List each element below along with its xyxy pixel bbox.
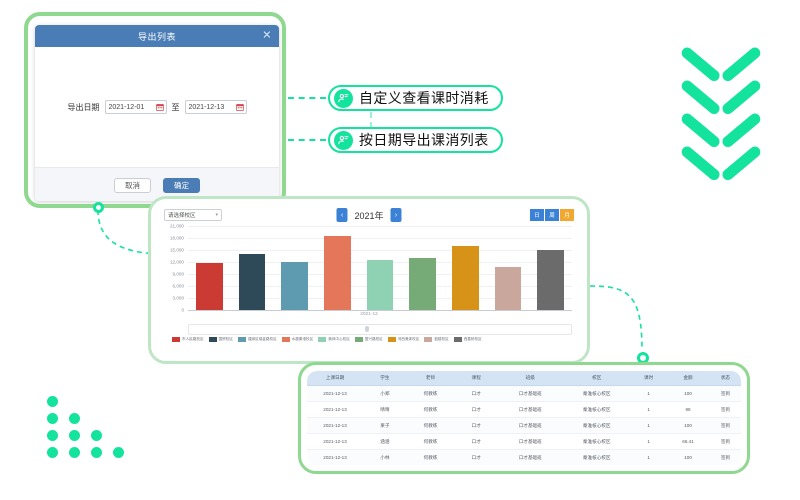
table-row[interactable]: 2021-12-13涵涵何教练口才口才基础班秦淮核心校区166.41签到 <box>307 434 741 450</box>
y-axis-tick: 12,000 <box>170 260 184 265</box>
table-cell: 小林 <box>363 450 407 466</box>
table-cell: 2021-12-13 <box>307 386 363 402</box>
legend-label: 国贸校区 <box>219 337 233 342</box>
chart-legend: 市人民路校区国贸校区建邺区瑞金路校区水墨秦淮校区奥体中心校区复兴路校区河西奥体校… <box>172 337 572 342</box>
legend-swatch <box>209 337 217 342</box>
grid-line <box>188 310 572 311</box>
table-cell: 秦淮核心校区 <box>562 450 631 466</box>
y-axis-tick: 15,000 <box>170 248 184 253</box>
bar-cell <box>188 226 231 310</box>
legend-label: 鼓楼校区 <box>434 337 448 342</box>
legend-swatch <box>172 337 180 342</box>
bar-cell <box>231 226 274 310</box>
bar-series <box>188 226 572 310</box>
bar[interactable] <box>196 263 222 310</box>
bar[interactable] <box>495 267 521 310</box>
legend-item[interactable]: 建邺区瑞金路校区 <box>238 337 277 342</box>
table-cell: 2021-12-13 <box>307 450 363 466</box>
legend-label: 复兴路校区 <box>365 337 383 342</box>
date-range-separator: 至 <box>172 102 180 113</box>
legend-item[interactable]: 西善桥校区 <box>454 337 482 342</box>
legend-item[interactable]: 国贸校区 <box>209 337 233 342</box>
legend-label: 水墨秦淮校区 <box>292 337 314 342</box>
legend-item[interactable]: 复兴路校区 <box>355 337 383 342</box>
calendar-icon[interactable] <box>156 103 164 111</box>
callout-label: 自定义查看课时消耗 <box>359 88 489 108</box>
year-navigator: ‹ 2021年 › <box>336 208 401 222</box>
y-axis-tick: 9,000 <box>173 272 185 277</box>
callout-label: 按日期导出课消列表 <box>359 130 489 150</box>
legend-item[interactable]: 奥体中心校区 <box>318 337 350 342</box>
chart-panel: 请选择校区 ▾ ‹ 2021年 › 日 周 月 03,0006,0009,000… <box>158 206 580 354</box>
table-column-header: 课时 <box>631 371 666 386</box>
table-cell: 小郑 <box>363 386 407 402</box>
table-cell: 签到 <box>710 402 741 418</box>
connector-line-chart-table <box>588 284 654 356</box>
bar-cell <box>401 226 444 310</box>
table-cell: 签到 <box>710 434 741 450</box>
y-axis: 03,0006,0009,00012,00015,00018,00021,000 <box>162 226 186 310</box>
legend-item[interactable]: 市人民路校区 <box>172 337 204 342</box>
legend-swatch <box>454 337 462 342</box>
table-cell: 2021-12-13 <box>307 434 363 450</box>
dot-matrix-decoration <box>47 396 133 458</box>
calendar-icon[interactable] <box>236 103 244 111</box>
y-axis-tick: 18,000 <box>170 236 184 241</box>
bar-chart-plot: 03,0006,0009,00012,00015,00018,00021,000… <box>158 226 580 320</box>
callout-dash-top <box>288 97 326 99</box>
legend-swatch <box>282 337 290 342</box>
table-cell: 秦淮核心校区 <box>562 386 631 402</box>
bar[interactable] <box>409 258 435 310</box>
chevron-down-icon: ▾ <box>215 212 218 218</box>
bar-cell <box>444 226 487 310</box>
campus-select-value: 请选择校区 <box>168 211 196 219</box>
y-axis-tick: 21,000 <box>170 224 184 229</box>
table-row[interactable]: 2021-12-13小郑何教练口才口才基础班秦淮核心校区1100签到 <box>307 386 741 402</box>
campus-select[interactable]: 请选择校区 ▾ <box>164 209 222 221</box>
table-row[interactable]: 2021-12-13小林何教练口才口才基础班秦淮核心校区1100签到 <box>307 450 741 466</box>
table-cell: 签到 <box>710 450 741 466</box>
prev-year-button[interactable]: ‹ <box>336 208 347 222</box>
legend-item[interactable]: 河西奥体校区 <box>388 337 420 342</box>
legend-swatch <box>355 337 363 342</box>
bar[interactable] <box>367 260 393 310</box>
table-cell: 签到 <box>710 386 741 402</box>
poster-canvas: 导出列表 ✕ 导出日期 2021-12-01 至 2021-12-13 <box>0 0 800 500</box>
bar-cell <box>487 226 530 310</box>
person-settings-icon <box>334 89 353 108</box>
table-cell: 66.41 <box>666 434 710 450</box>
granularity-day-button[interactable]: 日 <box>530 209 545 221</box>
y-axis-tick: 6,000 <box>173 284 185 289</box>
bar-cell <box>529 226 572 310</box>
table-cell: 98 <box>666 402 710 418</box>
legend-item[interactable]: 鼓楼校区 <box>424 337 448 342</box>
table-cell: 口才 <box>454 386 498 402</box>
table-cell: 口才基础班 <box>498 402 562 418</box>
table-cell: 签到 <box>710 418 741 434</box>
confirm-button[interactable]: 确定 <box>163 178 200 193</box>
table-column-header: 状态 <box>710 371 741 386</box>
bar-cell <box>273 226 316 310</box>
table-cell: 口才 <box>454 402 498 418</box>
table-column-header: 上课日期 <box>307 371 363 386</box>
legend-swatch <box>238 337 246 342</box>
table-cell: 口才基础班 <box>498 450 562 466</box>
table-cell: 2021-12-13 <box>307 418 363 434</box>
table-cell: 口才基础班 <box>498 418 562 434</box>
table-body: 2021-12-13小郑何教练口才口才基础班秦淮核心校区1100签到2021-1… <box>307 386 741 466</box>
callout-dash-connector <box>370 112 372 128</box>
table-cell: 1 <box>631 450 666 466</box>
table-cell: 2021-12-13 <box>307 402 363 418</box>
table-cell: 何教练 <box>407 434 455 450</box>
legend-label: 西善桥校区 <box>464 337 482 342</box>
table-column-header: 金额 <box>666 371 710 386</box>
cancel-button[interactable]: 取消 <box>114 178 151 193</box>
table-cell: 何教练 <box>407 402 455 418</box>
bar[interactable] <box>537 250 563 310</box>
dialog-body: 导出日期 2021-12-01 至 2021-12-13 <box>35 47 279 167</box>
chart-horizontal-scrollbar[interactable] <box>188 324 572 335</box>
granularity-month-button[interactable]: 月 <box>560 209 574 221</box>
end-date-value: 2021-12-13 <box>189 104 234 111</box>
table-cell: 秦淮核心校区 <box>562 418 631 434</box>
class-consumption-table: 上课日期学生老师课程班级校区课时金额状态 2021-12-13小郑何教练口才口才… <box>307 371 741 465</box>
class-consumption-table-wrapper: 上课日期学生老师课程班级校区课时金额状态 2021-12-13小郑何教练口才口才… <box>307 371 741 465</box>
next-year-button[interactable]: › <box>391 208 402 222</box>
bar[interactable] <box>281 262 307 310</box>
dialog-titlebar: 导出列表 ✕ <box>35 25 279 47</box>
table-cell: 何教练 <box>407 418 455 434</box>
bar[interactable] <box>239 254 265 310</box>
table-cell: 涵涵 <box>363 434 407 450</box>
export-dialog-card: 导出列表 ✕ 导出日期 2021-12-01 至 2021-12-13 <box>24 12 286 208</box>
table-cell: 1 <box>631 434 666 450</box>
legend-swatch <box>424 337 432 342</box>
legend-label: 奥体中心校区 <box>328 337 350 342</box>
start-date-value: 2021-12-01 <box>109 104 154 111</box>
table-cell: 口才 <box>454 418 498 434</box>
table-column-header: 课程 <box>454 371 498 386</box>
table-cell: 100 <box>666 450 710 466</box>
legend-label: 建邺区瑞金路校区 <box>248 337 277 342</box>
table-cell: 口才基础班 <box>498 434 562 450</box>
x-axis-label: 2021-12 <box>158 312 580 317</box>
table-column-header: 校区 <box>562 371 631 386</box>
table-row[interactable]: 2021-12-13晴晴何教练口才口才基础班秦淮核心校区198签到 <box>307 402 741 418</box>
table-cell: 何教练 <box>407 450 455 466</box>
legend-swatch <box>388 337 396 342</box>
legend-item[interactable]: 水墨秦淮校区 <box>282 337 314 342</box>
scrollbar-thumb[interactable] <box>365 326 369 332</box>
chevron-down-icon <box>683 139 759 183</box>
bar[interactable] <box>324 236 350 310</box>
table-cell: 何教练 <box>407 386 455 402</box>
table-cell: 果子 <box>363 418 407 434</box>
table-cell: 1 <box>631 402 666 418</box>
export-dialog: 导出列表 ✕ 导出日期 2021-12-01 至 2021-12-13 <box>35 25 279 201</box>
table-column-header: 学生 <box>363 371 407 386</box>
person-settings-icon <box>334 131 353 150</box>
table-cell: 口才 <box>454 434 498 450</box>
table-head: 上课日期学生老师课程班级校区课时金额状态 <box>307 371 741 386</box>
table-cell: 秦淮核心校区 <box>562 434 631 450</box>
callout-dash-bottom <box>288 139 326 141</box>
class-consumption-table-card: 上课日期学生老师课程班级校区课时金额状态 2021-12-13小郑何教练口才口才… <box>298 362 750 474</box>
table-cell: 1 <box>631 386 666 402</box>
callout-export-by-date[interactable]: 按日期导出课消列表 <box>328 127 503 153</box>
table-cell: 秦淮核心校区 <box>562 402 631 418</box>
table-cell: 口才基础班 <box>498 386 562 402</box>
chevron-decoration-group <box>683 40 773 190</box>
table-column-header: 老师 <box>407 371 455 386</box>
start-date-input[interactable]: 2021-12-01 <box>105 100 167 114</box>
export-date-label: 导出日期 <box>68 102 100 113</box>
end-date-input[interactable]: 2021-12-13 <box>185 100 247 114</box>
chart-toolbar: 请选择校区 ▾ ‹ 2021年 › 日 周 月 <box>158 206 580 226</box>
granularity-toggle-group: 日 周 月 <box>530 209 574 221</box>
legend-swatch <box>318 337 326 342</box>
table-cell: 晴晴 <box>363 402 407 418</box>
granularity-week-button[interactable]: 周 <box>545 209 560 221</box>
bar-cell <box>359 226 402 310</box>
bar[interactable] <box>452 246 478 310</box>
year-label: 2021年 <box>354 209 383 222</box>
table-cell: 口才 <box>454 450 498 466</box>
table-header-row: 上课日期学生老师课程班级校区课时金额状态 <box>307 371 741 386</box>
callout-custom-view[interactable]: 自定义查看课时消耗 <box>328 85 503 111</box>
chart-card: 请选择校区 ▾ ‹ 2021年 › 日 周 月 03,0006,0009,000… <box>148 196 590 364</box>
table-cell: 100 <box>666 386 710 402</box>
y-axis-tick: 3,000 <box>173 296 185 301</box>
table-row[interactable]: 2021-12-13果子何教练口才口才基础班秦淮核心校区1100签到 <box>307 418 741 434</box>
table-column-header: 班级 <box>498 371 562 386</box>
export-date-field-row: 导出日期 2021-12-01 至 2021-12-13 <box>68 100 247 114</box>
table-cell: 1 <box>631 418 666 434</box>
legend-label: 市人民路校区 <box>182 337 204 342</box>
dialog-title: 导出列表 <box>138 30 176 43</box>
table-cell: 100 <box>666 418 710 434</box>
legend-label: 河西奥体校区 <box>398 337 420 342</box>
close-icon[interactable]: ✕ <box>262 31 272 42</box>
bar-cell <box>316 226 359 310</box>
